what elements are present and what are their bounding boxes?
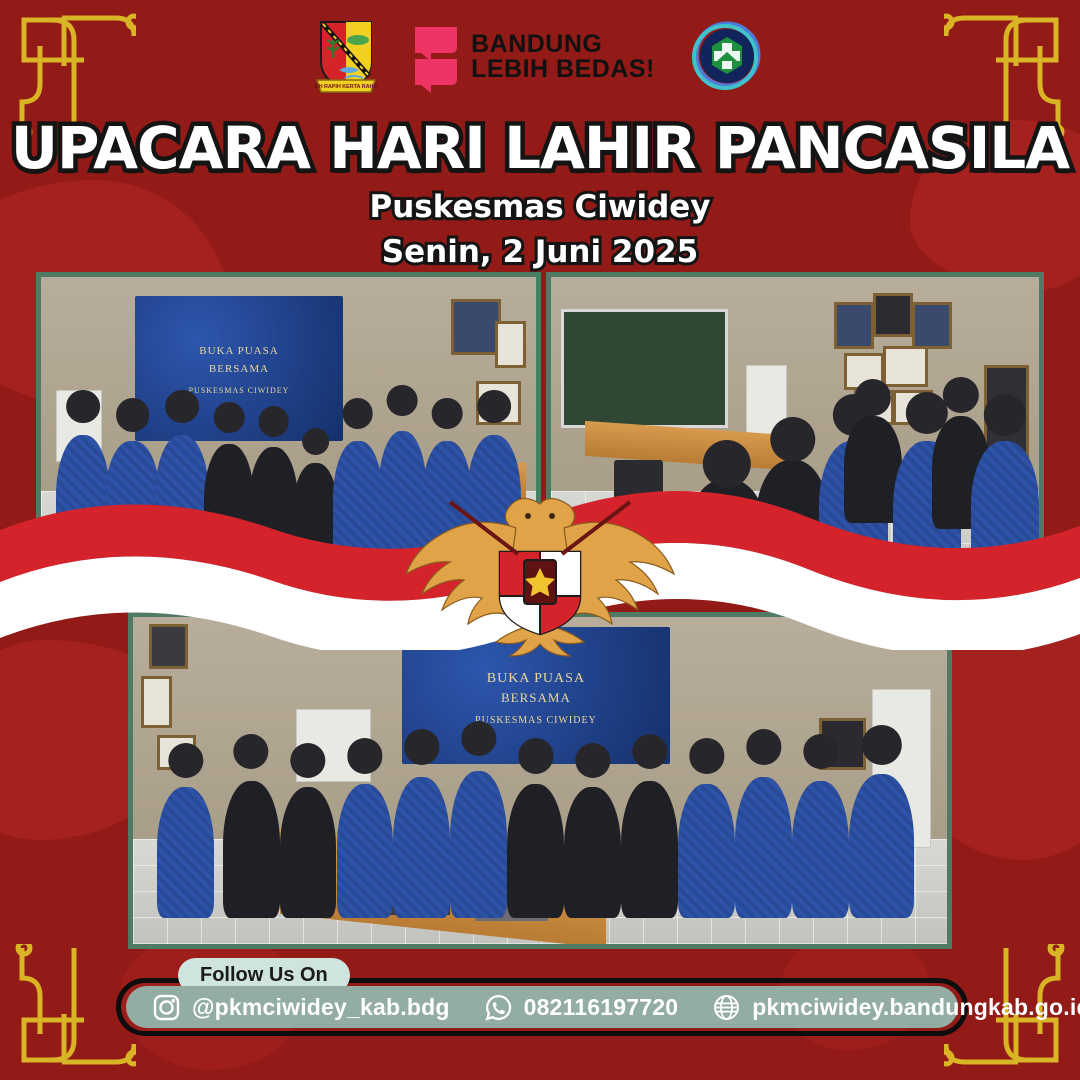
globe-icon: [712, 993, 741, 1022]
bedas-line-2: LEBIH BEDAS!: [471, 57, 655, 83]
kabupaten-bandung-emblem-icon: REPEH RAPIH KERTA RAHARJA: [315, 18, 377, 96]
photo-group-portrait: BUKA PUASA BERSAMA PUSKESMAS CIWIDEY: [128, 612, 952, 949]
page-title: UPACARA HARI LAHIR PANCASILA: [0, 118, 1080, 179]
website-url: pkmciwidey.bandungkab.go.id: [752, 994, 1080, 1021]
header-logo-row: REPEH RAPIH KERTA RAHARJA BANDUNG LEBIH …: [0, 18, 1080, 96]
backdrop-line-3: PUSKESMAS CIWIDEY: [135, 386, 343, 395]
photo-audience-screen: [546, 272, 1044, 597]
contact-instagram[interactable]: @pkmciwidey_kab.bdg: [152, 993, 450, 1022]
bedas-mark-icon: [411, 21, 461, 93]
backdrop-line-1: BUKA PUASA: [135, 345, 343, 357]
contact-bar: @pkmciwidey_kab.bdg 082116197720 pkmciwi…: [126, 986, 958, 1028]
title-date: Senin, 2 Juni 2025: [0, 234, 1080, 270]
photo-salute-group: BUKA PUASA BERSAMA PUSKESMAS CIWIDEY: [36, 272, 541, 597]
instagram-icon: [152, 993, 181, 1022]
bedas-line-1: BANDUNG: [471, 32, 655, 58]
contact-website[interactable]: pkmciwidey.bandungkab.go.id: [712, 993, 1080, 1022]
backdrop-line-1: BUKA PUASA: [402, 671, 671, 687]
backdrop-line-2: BERSAMA: [135, 363, 343, 375]
poster-canvas: REPEH RAPIH KERTA RAHARJA BANDUNG LEBIH …: [0, 0, 1080, 1080]
contact-whatsapp[interactable]: 082116197720: [484, 993, 679, 1022]
instagram-handle: @pkmciwidey_kab.bdg: [192, 994, 450, 1021]
bandung-lebih-bedas-logo: BANDUNG LEBIH BEDAS!: [411, 21, 655, 93]
title-block: UPACARA HARI LAHIR PANCASILA Puskesmas C…: [0, 118, 1080, 270]
backdrop-line-3: PUSKESMAS CIWIDEY: [402, 715, 671, 726]
whatsapp-number: 082116197720: [524, 994, 679, 1021]
emblem-motto: REPEH RAPIH KERTA RAHARJA: [315, 84, 377, 90]
puskesmas-health-logo-icon: [689, 19, 765, 95]
whatsapp-icon: [484, 993, 513, 1022]
title-subtitle: Puskesmas Ciwidey: [0, 189, 1080, 225]
bedas-wordmark: BANDUNG LEBIH BEDAS!: [471, 32, 655, 83]
backdrop-line-2: BERSAMA: [402, 690, 671, 706]
